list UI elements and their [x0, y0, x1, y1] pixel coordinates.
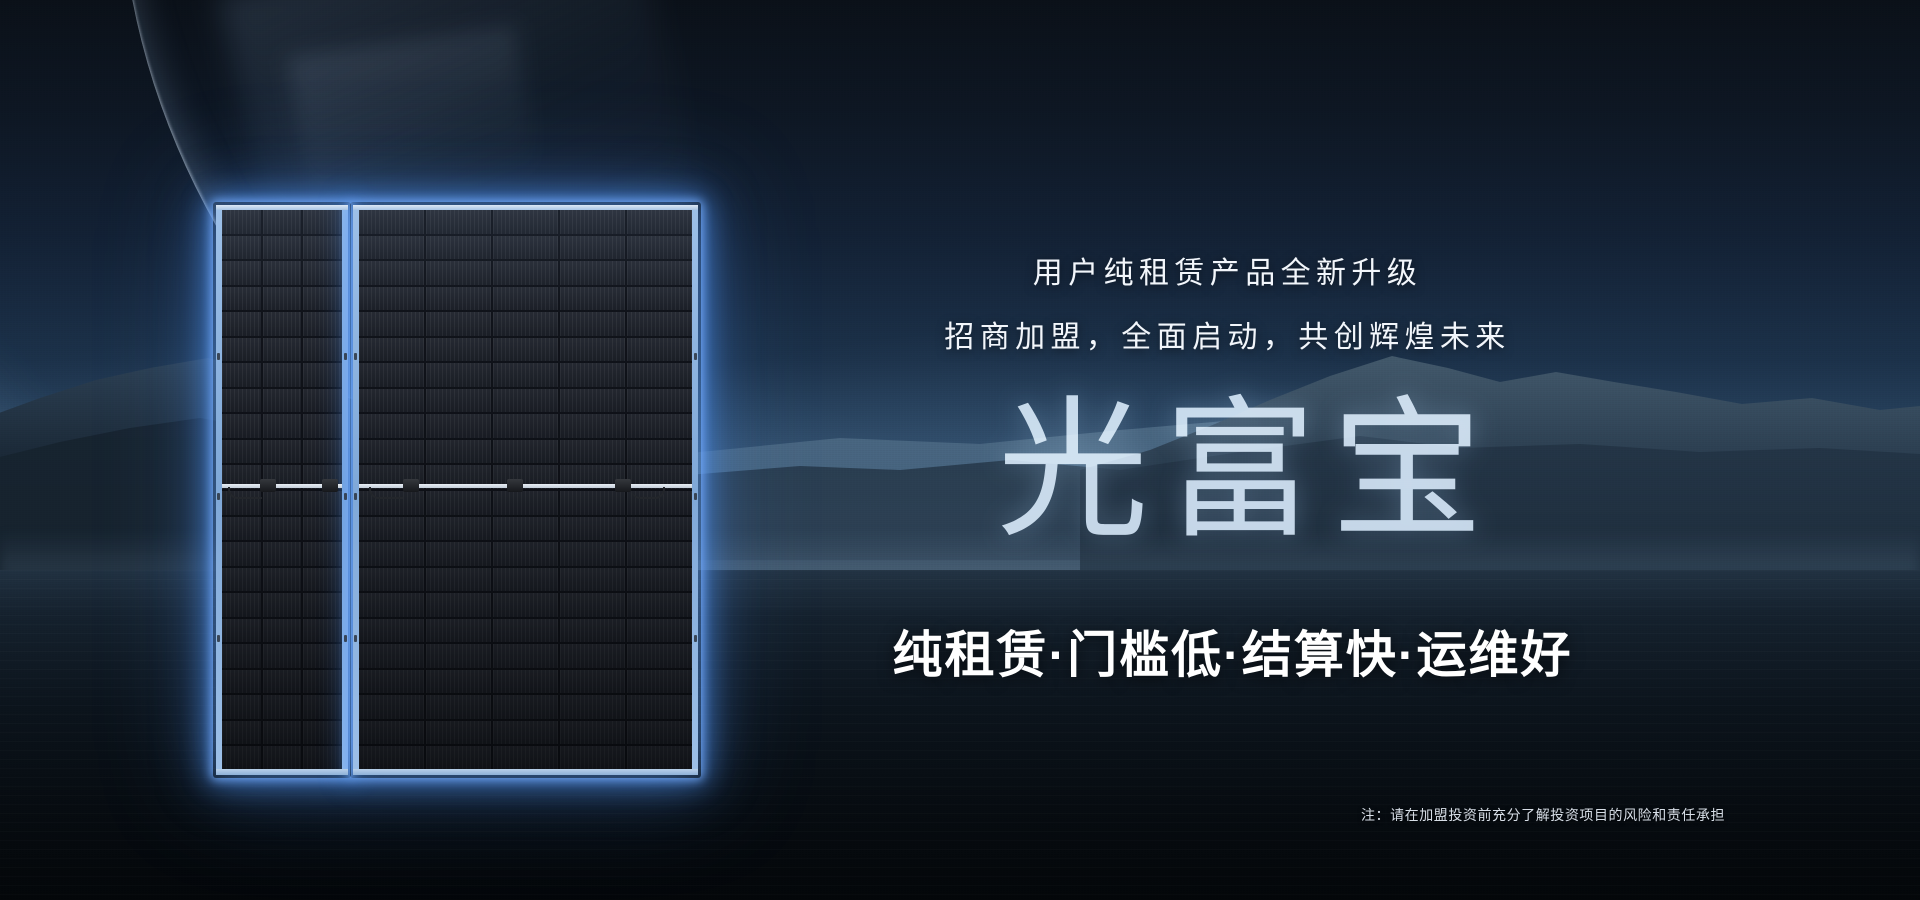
- pv-cell: [426, 210, 491, 234]
- pv-cell: [627, 542, 692, 566]
- pv-cell: [359, 644, 424, 668]
- pv-cell: [426, 670, 491, 694]
- pv-cell: [222, 721, 261, 745]
- pv-cell: [359, 287, 424, 311]
- pv-cell: [426, 517, 491, 541]
- pv-cell: [263, 568, 302, 592]
- pv-cell: [493, 491, 558, 515]
- pv-cell: [359, 568, 424, 592]
- pv-cell: [627, 593, 692, 617]
- pv-cell: [560, 414, 625, 438]
- pv-cell: [303, 568, 342, 592]
- pv-cell: [222, 517, 261, 541]
- promo-banner: 用户纯租赁产品全新升级 招商加盟，全面启动，共创辉煌未来 光富宝 纯租赁·门槛低…: [0, 0, 1920, 900]
- pv-cell: [426, 721, 491, 745]
- brand-name: 光富宝: [740, 395, 1755, 547]
- pv-cell: [627, 414, 692, 438]
- pv-cell: [303, 746, 342, 770]
- pv-cell: [263, 491, 302, 515]
- pv-cell: [560, 670, 625, 694]
- pv-cell: [222, 695, 261, 719]
- pv-cell: [560, 287, 625, 311]
- pv-cell: [222, 414, 261, 438]
- tagline: 纯租赁·门槛低·结算快·运维好: [740, 615, 1725, 687]
- pv-cell: [359, 746, 424, 770]
- pv-cell: [426, 287, 491, 311]
- pv-cell: [426, 568, 491, 592]
- pv-cell: [493, 389, 558, 413]
- pv-cell: [493, 312, 558, 336]
- pv-cell: [493, 440, 558, 464]
- pv-cell: [222, 619, 261, 643]
- pv-cell: [560, 593, 625, 617]
- pv-cell: [359, 210, 424, 234]
- pv-cell: [560, 542, 625, 566]
- pv-cell: [426, 414, 491, 438]
- pv-cell: [359, 312, 424, 336]
- pv-cell: [359, 363, 424, 387]
- pv-cell: [426, 363, 491, 387]
- junction-box: [615, 479, 631, 492]
- pv-cell: [263, 312, 302, 336]
- solar-module-left: [216, 205, 348, 775]
- frame-screw: [217, 353, 220, 360]
- junction-box: [322, 479, 338, 492]
- pv-cell: [627, 363, 692, 387]
- pv-cell: [493, 619, 558, 643]
- pv-cell: [627, 210, 692, 234]
- pv-cell: [263, 338, 302, 362]
- pv-cell: [627, 261, 692, 285]
- module-bottom-rail: [216, 769, 348, 775]
- pv-cell: [222, 389, 261, 413]
- pv-cell: [263, 619, 302, 643]
- pv-cell: [493, 210, 558, 234]
- pv-cell: [303, 389, 342, 413]
- pv-cell: [560, 568, 625, 592]
- pv-cell: [493, 338, 558, 362]
- mc4-cable: [631, 487, 665, 499]
- headline-line-2: 招商加盟，全面启动，共创辉煌未来: [740, 312, 1715, 356]
- pv-cell: [359, 695, 424, 719]
- pv-cell: [493, 746, 558, 770]
- copy-block: 用户纯租赁产品全新升级 招商加盟，全面启动，共创辉煌未来 光富宝 纯租赁·门槛低…: [740, 0, 1920, 900]
- pv-cell: [263, 236, 302, 260]
- pv-cell: [222, 644, 261, 668]
- pv-cell: [222, 670, 261, 694]
- solar-module-right: [353, 205, 698, 775]
- pv-cell: [560, 261, 625, 285]
- pv-cell: [627, 287, 692, 311]
- frame-screw: [354, 353, 357, 360]
- pv-cell: [627, 644, 692, 668]
- pv-cell: [560, 236, 625, 260]
- frame-screw: [694, 493, 697, 500]
- pv-cell: [303, 287, 342, 311]
- mc4-cable: [369, 487, 403, 499]
- pv-cell: [560, 312, 625, 336]
- pv-cell: [359, 389, 424, 413]
- pv-cell: [263, 670, 302, 694]
- pv-cell: [493, 236, 558, 260]
- pv-cell: [222, 593, 261, 617]
- pv-cell: [426, 261, 491, 285]
- pv-cell: [263, 593, 302, 617]
- junction-box: [507, 479, 523, 492]
- pv-cell: [303, 593, 342, 617]
- pv-cell: [560, 440, 625, 464]
- pv-cell: [222, 287, 261, 311]
- pv-cell: [222, 363, 261, 387]
- module-glass-left: [222, 210, 342, 770]
- pv-cell: [303, 517, 342, 541]
- pv-cell: [222, 746, 261, 770]
- pv-cell: [303, 261, 342, 285]
- mc4-cable: [228, 487, 262, 499]
- pv-cell: [426, 593, 491, 617]
- pv-cell: [493, 542, 558, 566]
- frame-screw: [694, 353, 697, 360]
- pv-cell: [560, 517, 625, 541]
- headline-line-1: 用户纯租赁产品全新升级: [740, 248, 1715, 292]
- pv-cell: [263, 721, 302, 745]
- pv-cell: [359, 721, 424, 745]
- pv-cell: [493, 363, 558, 387]
- pv-cell: [560, 746, 625, 770]
- pv-cell: [493, 644, 558, 668]
- pv-cell: [222, 440, 261, 464]
- pv-cell: [627, 746, 692, 770]
- pv-cell: [222, 210, 261, 234]
- pv-cell: [426, 389, 491, 413]
- pv-cell: [627, 440, 692, 464]
- pv-cell: [627, 389, 692, 413]
- pv-cell: [303, 491, 342, 515]
- pv-cell: [222, 312, 261, 336]
- pv-cell: [303, 721, 342, 745]
- pv-cell: [627, 517, 692, 541]
- pv-cell: [627, 721, 692, 745]
- pv-cell: [426, 619, 491, 643]
- pv-cell: [560, 338, 625, 362]
- pv-cell: [627, 236, 692, 260]
- pv-cell: [627, 568, 692, 592]
- pv-cell: [303, 644, 342, 668]
- frame-screw: [344, 353, 347, 360]
- pv-cell: [426, 312, 491, 336]
- frame-screw: [354, 635, 357, 642]
- pv-cell: [426, 236, 491, 260]
- pv-cell: [263, 287, 302, 311]
- pv-cell: [303, 414, 342, 438]
- pv-cell: [627, 312, 692, 336]
- frame-screw: [217, 635, 220, 642]
- pv-cell: [560, 363, 625, 387]
- frame-screw: [344, 493, 347, 500]
- pv-cell: [303, 363, 342, 387]
- pv-cell: [303, 312, 342, 336]
- frame-screw: [344, 635, 347, 642]
- pv-cell: [560, 491, 625, 515]
- module-top-rail: [353, 205, 698, 210]
- pv-cell: [303, 619, 342, 643]
- frame-screw: [354, 493, 357, 500]
- pv-cell: [560, 721, 625, 745]
- pv-cell: [359, 619, 424, 643]
- pv-cell: [263, 261, 302, 285]
- pv-cell: [493, 414, 558, 438]
- frame-screw: [217, 493, 220, 500]
- pv-cell: [359, 261, 424, 285]
- pv-cell: [493, 517, 558, 541]
- pv-cell: [627, 695, 692, 719]
- pv-cell: [426, 644, 491, 668]
- pv-cell: [263, 644, 302, 668]
- pv-cell: [222, 261, 261, 285]
- pv-cell: [263, 695, 302, 719]
- disclaimer-note: 注：请在加盟投资前充分了解投资项目的风险和责任承担: [1361, 805, 1725, 825]
- pv-cell: [560, 644, 625, 668]
- pv-cell: [493, 287, 558, 311]
- pv-cell: [303, 236, 342, 260]
- pv-cell: [560, 210, 625, 234]
- pv-cell: [263, 517, 302, 541]
- pv-cell: [222, 236, 261, 260]
- pv-cell: [560, 695, 625, 719]
- pv-cell: [303, 210, 342, 234]
- pv-cell: [263, 746, 302, 770]
- pv-cell: [359, 440, 424, 464]
- pv-cell: [359, 414, 424, 438]
- pv-cell: [627, 670, 692, 694]
- pv-cell: [263, 210, 302, 234]
- junction-box: [403, 479, 419, 492]
- pv-cell: [303, 338, 342, 362]
- pv-cell: [426, 695, 491, 719]
- pv-cell: [493, 721, 558, 745]
- pv-cell: [359, 236, 424, 260]
- pv-cell: [359, 670, 424, 694]
- pv-cell: [426, 491, 491, 515]
- module-bottom-rail: [353, 769, 698, 775]
- pv-cell: [359, 593, 424, 617]
- pv-cell: [560, 389, 625, 413]
- pv-cell: [263, 363, 302, 387]
- pv-cell: [222, 338, 261, 362]
- pv-cell: [426, 542, 491, 566]
- module-top-rail: [216, 205, 348, 210]
- junction-box: [260, 479, 276, 492]
- pv-cell: [303, 670, 342, 694]
- pv-cell: [359, 542, 424, 566]
- pv-cell: [303, 440, 342, 464]
- pv-cell: [627, 619, 692, 643]
- frame-screw: [694, 635, 697, 642]
- pv-cell: [263, 389, 302, 413]
- pv-cell: [222, 542, 261, 566]
- pv-cell: [426, 746, 491, 770]
- pv-cell: [493, 695, 558, 719]
- pv-cell: [359, 338, 424, 362]
- pv-cell: [359, 517, 424, 541]
- pv-cell: [493, 568, 558, 592]
- pv-cell: [263, 440, 302, 464]
- pv-cell: [426, 338, 491, 362]
- pv-cell: [627, 338, 692, 362]
- solar-panel-product: [216, 205, 698, 775]
- pv-cell: [303, 542, 342, 566]
- module-glass-right: [359, 210, 692, 770]
- pv-cell: [303, 695, 342, 719]
- pv-cell: [493, 670, 558, 694]
- pv-cell: [493, 593, 558, 617]
- pv-cell: [426, 440, 491, 464]
- pv-cell: [263, 542, 302, 566]
- pv-cell: [222, 568, 261, 592]
- pv-cell: [493, 261, 558, 285]
- pv-cell: [560, 619, 625, 643]
- pv-cell: [263, 414, 302, 438]
